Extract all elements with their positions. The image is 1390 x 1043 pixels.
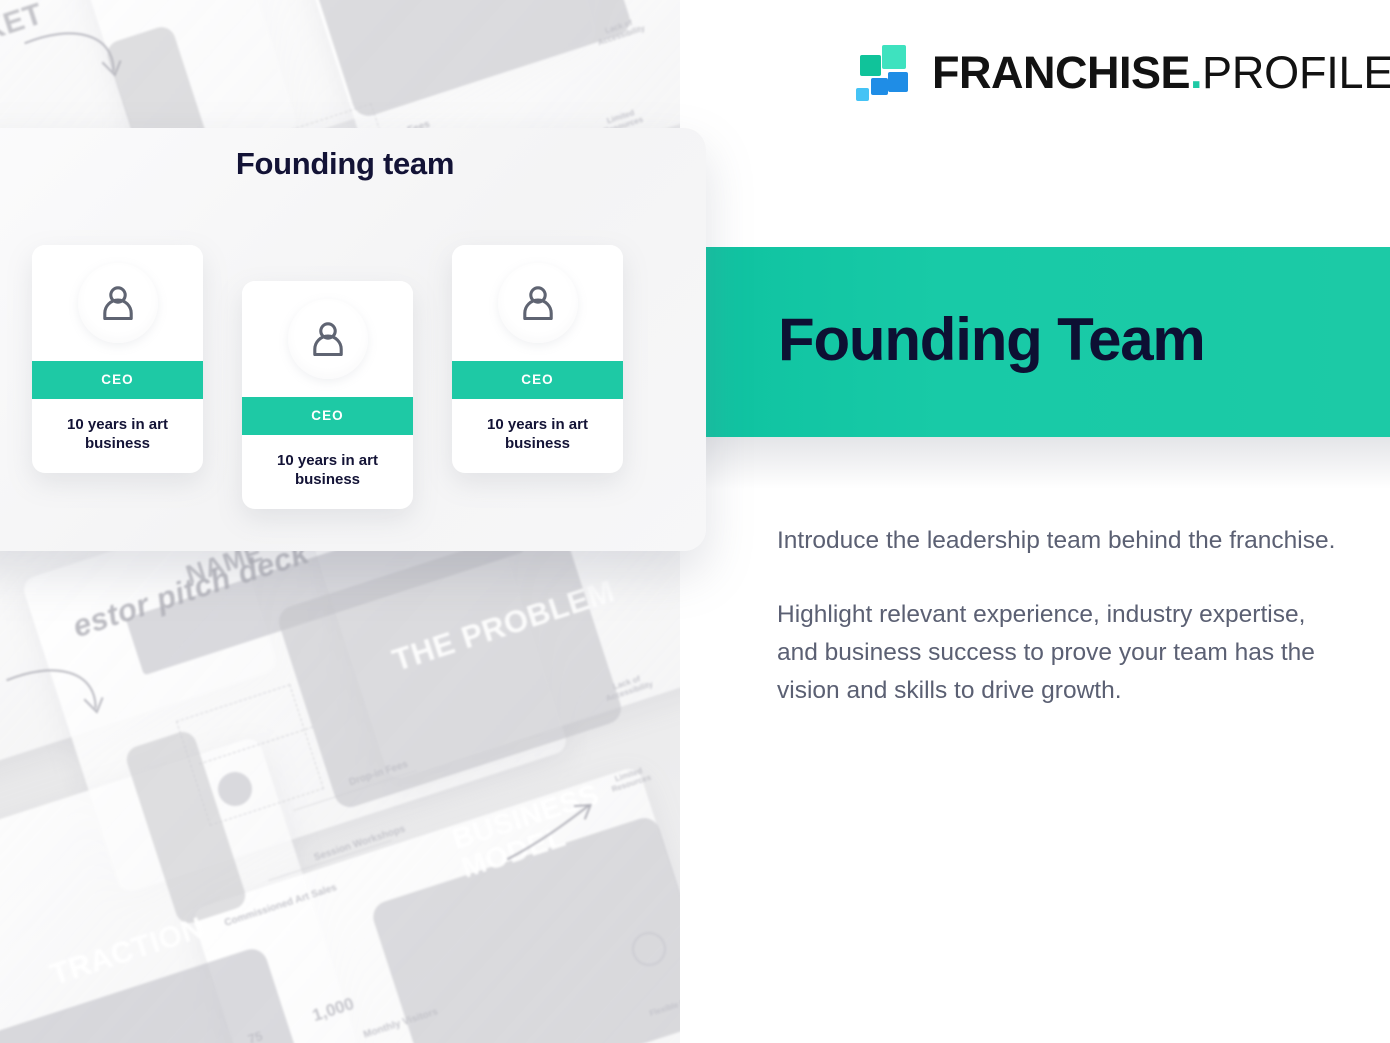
description-paragraph: Introduce the leadership team behind the… (777, 522, 1347, 560)
member-description: 10 years in art business (32, 399, 203, 473)
preview-panel-title: Founding team (180, 146, 510, 182)
title-band-shadow (705, 437, 1390, 489)
brand-logo[interactable]: FRANCHISE . PROFILES (852, 40, 1390, 104)
member-role-badge: CEO (32, 361, 203, 399)
brand-name-light: PROFILES (1202, 50, 1390, 95)
brand-name-bold: FRANCHISE (932, 50, 1190, 95)
brand-name-dot: . (1190, 50, 1202, 95)
page-title: Founding Team (778, 305, 1205, 374)
avatar-zone (452, 245, 623, 361)
team-member-card[interactable]: CEO 10 years in art business (452, 245, 623, 473)
person-icon (96, 281, 140, 325)
avatar (78, 263, 158, 343)
slide-description: Introduce the leadership team behind the… (777, 522, 1347, 710)
description-paragraph: Highlight relevant experience, industry … (777, 596, 1347, 710)
avatar (288, 299, 368, 379)
person-icon (516, 281, 560, 325)
avatar (498, 263, 578, 343)
brand-logo-text: FRANCHISE . PROFILES (932, 50, 1390, 95)
person-icon (306, 317, 350, 361)
avatar-zone (242, 281, 413, 397)
team-member-card[interactable]: CEO 10 years in art business (32, 245, 203, 473)
member-description: 10 years in art business (452, 399, 623, 473)
member-description: 10 years in art business (242, 435, 413, 509)
member-role-badge: CEO (242, 397, 413, 435)
slide-preview-panel[interactable]: Founding team CEO 10 years in art busine… (0, 128, 706, 551)
franchise-profiles-squares-logo (852, 43, 910, 101)
member-role-badge: CEO (452, 361, 623, 399)
avatar-zone (32, 245, 203, 361)
team-member-card[interactable]: CEO 10 years in art business (242, 281, 413, 509)
